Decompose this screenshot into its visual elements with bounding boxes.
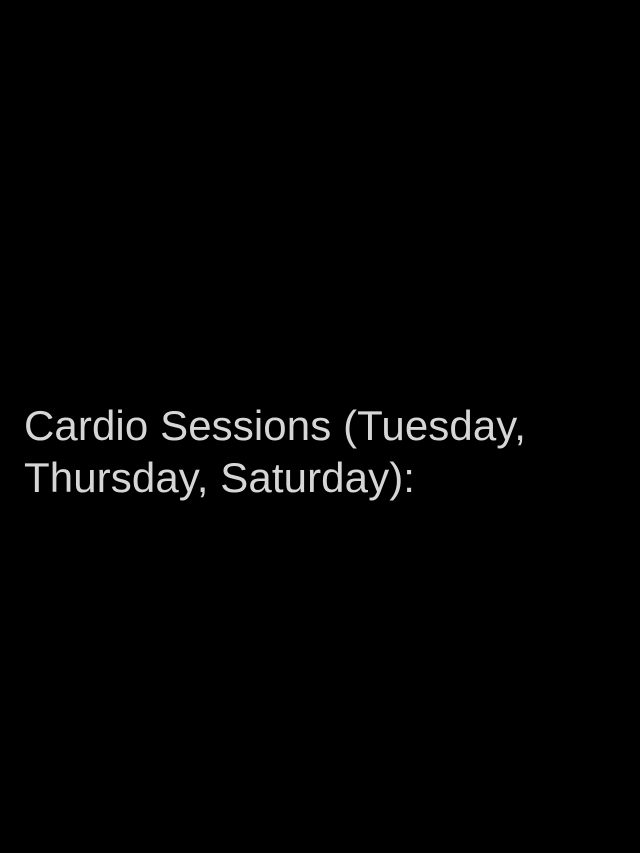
- headline-text: Cardio Sessions (Tuesday, Thursday, Satu…: [24, 400, 616, 504]
- headline-block: Cardio Sessions (Tuesday, Thursday, Satu…: [24, 400, 616, 504]
- slide-canvas: Cardio Sessions (Tuesday, Thursday, Satu…: [0, 0, 640, 853]
